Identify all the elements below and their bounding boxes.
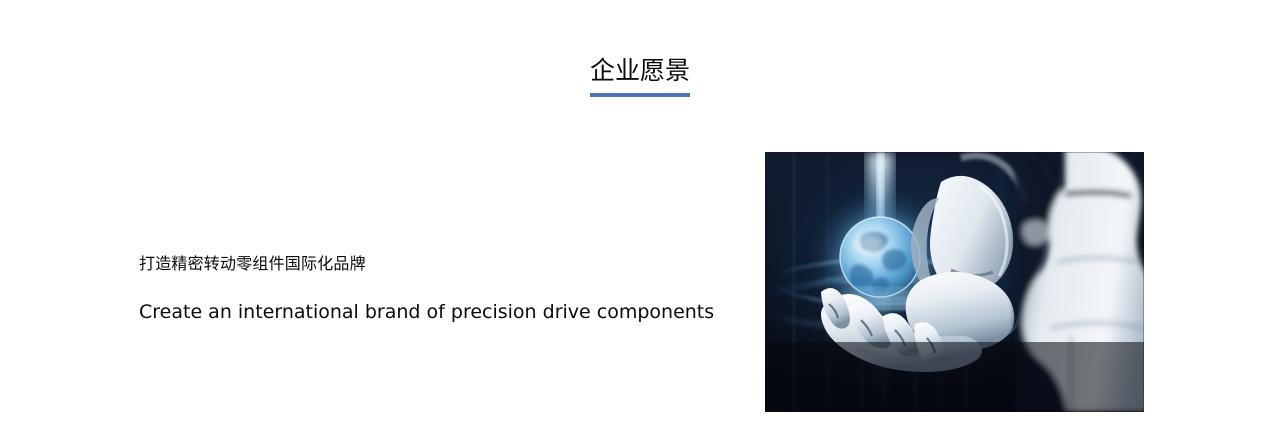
vision-image bbox=[765, 152, 1144, 412]
title-underline bbox=[590, 93, 690, 97]
vision-statement-en: Create an international brand of precisi… bbox=[139, 300, 699, 324]
robot-hand-globe-illustration bbox=[765, 152, 1144, 412]
section-title-text: 企业愿景 bbox=[588, 56, 692, 90]
vision-statement-cn: 打造精密转动零组件国际化品牌 bbox=[139, 252, 699, 276]
vision-copy-block: 打造精密转动零组件国际化品牌 Create an international b… bbox=[139, 252, 699, 324]
page-title: 企业愿景 bbox=[0, 56, 1280, 97]
